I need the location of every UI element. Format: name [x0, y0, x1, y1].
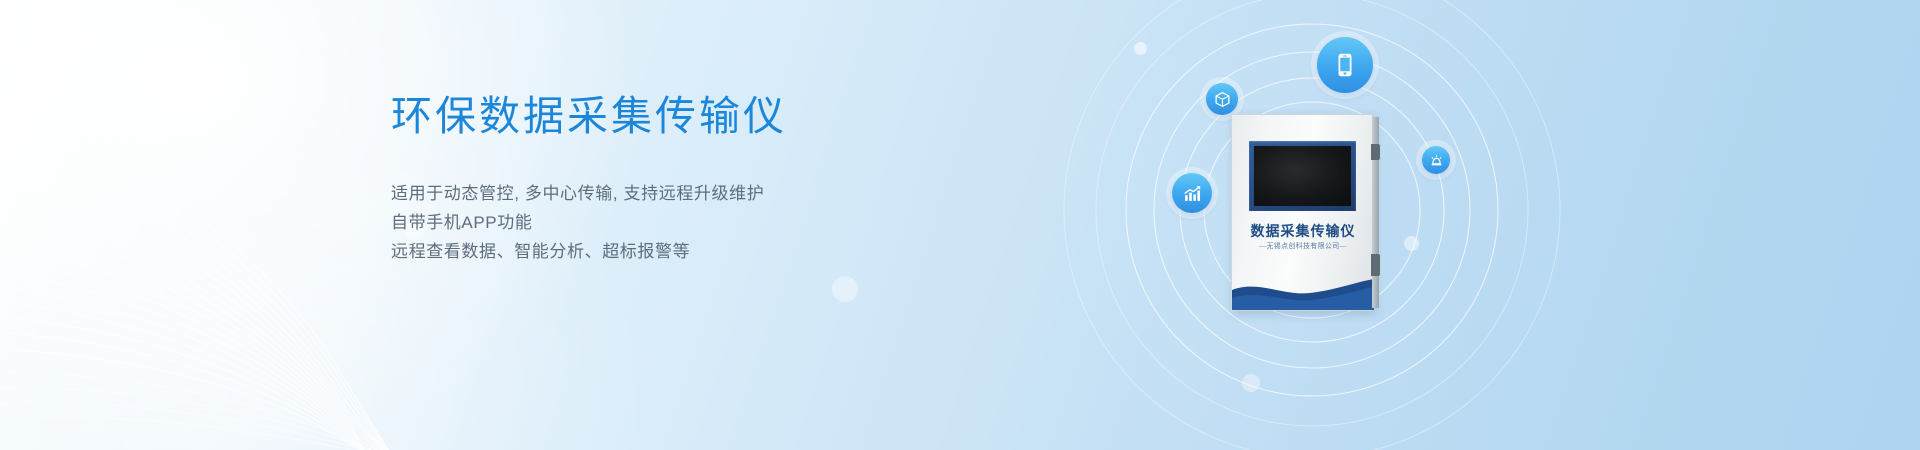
icon-bubble-phone[interactable] [1317, 37, 1373, 93]
device-screen [1254, 146, 1351, 206]
device-hinge-top [1371, 144, 1380, 160]
banner-subtitle-line-1: 适用于动态管控, 多中心传输, 支持远程升级维护 [391, 179, 1011, 208]
banner-copy: 环保数据采集传输仪 适用于动态管控, 多中心传输, 支持远程升级维护 自带手机A… [391, 96, 1011, 266]
banner-subtitle-line-2: 自带手机APP功能 [391, 208, 1011, 237]
banner-subtitle-line-3: 远程查看数据、智能分析、超标报警等 [391, 237, 1011, 266]
chart-icon [1182, 183, 1203, 204]
device-body: 数据采集传输仪 —无锡点创科技有限公司— [1231, 114, 1373, 311]
banner-subtitle-list: 适用于动态管控, 多中心传输, 支持远程升级维护 自带手机APP功能 远程查看数… [391, 179, 1011, 266]
device-wave-graphic [1232, 276, 1374, 310]
device-hinge-bottom [1371, 254, 1380, 276]
device-sublabel: —无锡点创科技有限公司— [1232, 241, 1374, 251]
device-label: 数据采集传输仪 [1232, 221, 1374, 241]
product-banner: 环保数据采集传输仪 适用于动态管控, 多中心传输, 支持远程升级维护 自带手机A… [0, 0, 1920, 450]
data-acquisition-device: 数据采集传输仪 —无锡点创科技有限公司— [1231, 114, 1379, 311]
icon-bubble-chart[interactable] [1172, 173, 1212, 213]
alarm-icon [1429, 153, 1444, 168]
phone-icon [1332, 52, 1358, 78]
banner-title: 环保数据采集传输仪 [391, 96, 1011, 137]
cube-icon [1214, 91, 1231, 108]
icon-bubble-cube[interactable] [1206, 83, 1238, 115]
bokeh-circle-2 [832, 276, 858, 302]
product-scene: 数据采集传输仪 —无锡点创科技有限公司— [1060, 0, 1680, 450]
icon-bubble-alarm[interactable] [1422, 146, 1450, 174]
device-screen-frame [1249, 141, 1356, 211]
